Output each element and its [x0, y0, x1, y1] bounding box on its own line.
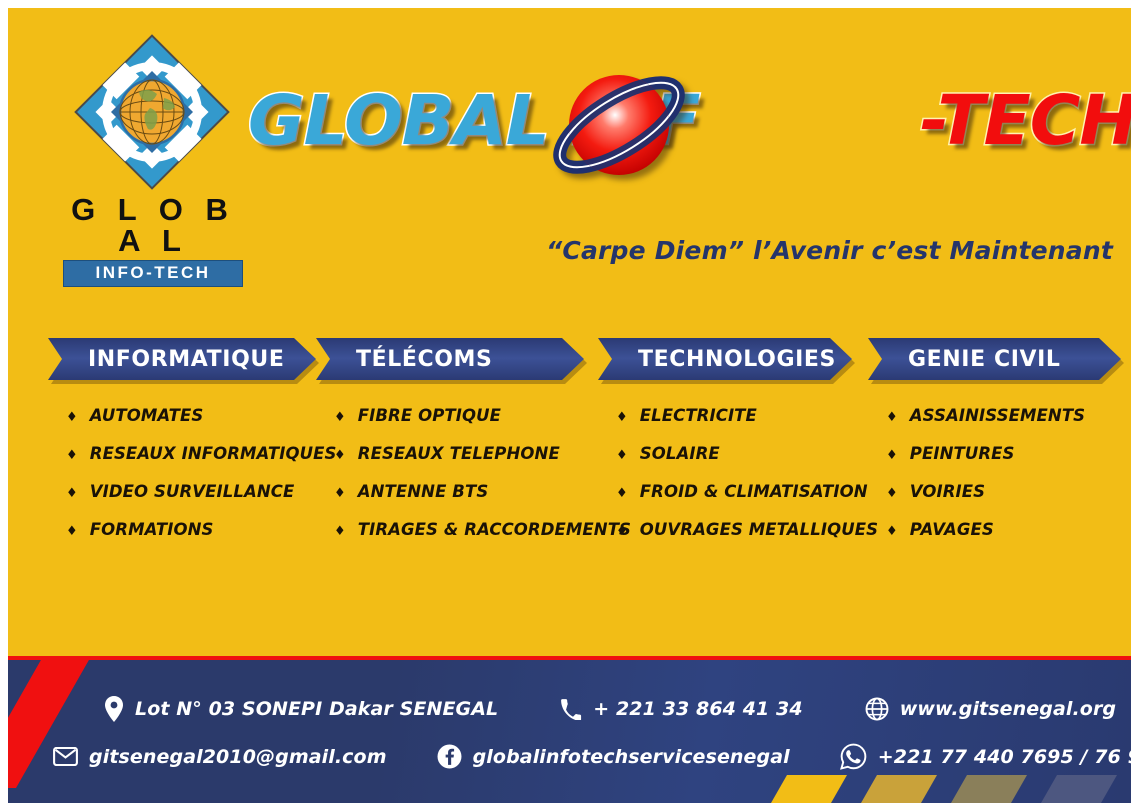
list-item: ♦ PEINTURES — [886, 444, 1121, 463]
phone-icon — [560, 698, 582, 720]
list-item-label: PEINTURES — [910, 444, 1015, 463]
diamond-globe-logo-icon — [66, 32, 238, 192]
category-banner-informatique[interactable]: INFORMATIQUE — [48, 338, 316, 380]
category-banner-telecoms[interactable]: TÉLÉCOMS — [316, 338, 584, 380]
decorative-fade-bars — [761, 767, 1131, 803]
contact-website[interactable]: www.gitsenegal.org — [865, 697, 1116, 721]
list-item: ♦ FIBRE OPTIQUE — [334, 406, 584, 425]
facebook-text: globalinfotechservicesenegal — [473, 746, 790, 768]
service-list: ♦ ELECTRICITE ♦ SOLAIRE ♦ FROID & CLIMAT… — [598, 406, 852, 539]
diamond-bullet-icon: ♦ — [616, 411, 628, 424]
list-item: ♦ PAVAGES — [886, 520, 1121, 539]
service-column-informatique: INFORMATIQUE ♦ AUTOMATES ♦ RESEAUX INFOR… — [48, 338, 316, 558]
list-item-label: OUVRAGES METALLIQUES — [640, 520, 878, 539]
diamond-bullet-icon: ♦ — [886, 449, 898, 462]
list-item-label: RESEAUX INFORMATIQUES — [90, 444, 337, 463]
contact-email[interactable]: gitsenegal2010@gmail.com — [53, 746, 387, 768]
list-item: ♦ AUTOMATES — [66, 406, 316, 425]
red-stripe — [8, 656, 1131, 660]
diamond-bullet-icon: ♦ — [66, 525, 78, 538]
list-item: ♦ RESEAUX INFORMATIQUES — [66, 444, 316, 463]
category-banner-genie-civil[interactable]: GENIE CIVIL — [868, 338, 1121, 380]
list-item: ♦ OUVRAGES METALLIQUES — [616, 520, 852, 539]
list-item-label: RESEAUX TELEPHONE — [358, 444, 560, 463]
contact-row-1: Lot N° 03 SONEPI Dakar SENEGAL + 221 33 … — [104, 696, 1126, 722]
list-item-label: AUTOMATES — [90, 406, 204, 425]
diamond-bullet-icon: ♦ — [66, 411, 78, 424]
list-item: ♦ ASSAINISSEMENTS — [886, 406, 1121, 425]
list-item: ♦ SOLAIRE — [616, 444, 852, 463]
diamond-bullet-icon: ♦ — [616, 487, 628, 500]
brand-title-part2: -TECH SERVICES — [920, 68, 1131, 174]
diamond-bullet-icon: ♦ — [66, 449, 78, 462]
flyer-canvas: G L O B A L INFO-TECH GLOBAL INF -TECH S… — [8, 8, 1131, 803]
list-item-label: ANTENNE BTS — [358, 482, 489, 501]
list-item-label: TIRAGES & RACCORDEMENTS — [358, 520, 631, 539]
list-item: ♦ FORMATIONS — [66, 520, 316, 539]
tagline: “Carpe Diem” l’Avenir c’est Maintenant — [8, 236, 1113, 265]
service-column-technologies: TECHNOLOGIES ♦ ELECTRICITE ♦ SOLAIRE ♦ F… — [598, 338, 852, 558]
list-item-label: SOLAIRE — [640, 444, 720, 463]
contact-facebook[interactable]: globalinfotechservicesenegal — [437, 744, 790, 769]
category-heading: TÉLÉCOMS — [316, 347, 492, 372]
diamond-bullet-icon: ♦ — [334, 411, 346, 424]
service-column-genie-civil: GENIE CIVIL ♦ ASSAINISSEMENTS ♦ PEINTURE… — [868, 338, 1121, 558]
category-heading: GENIE CIVIL — [868, 347, 1061, 372]
whatsapp-icon — [840, 743, 867, 770]
list-item-label: PAVAGES — [910, 520, 994, 539]
diamond-bullet-icon: ♦ — [886, 525, 898, 538]
website-text: www.gitsenegal.org — [900, 698, 1116, 720]
flyer-root: G L O B A L INFO-TECH GLOBAL INF -TECH S… — [0, 0, 1139, 811]
service-list: ♦ FIBRE OPTIQUE ♦ RESEAUX TELEPHONE ♦ AN… — [316, 406, 584, 539]
list-item: ♦ ANTENNE BTS — [334, 482, 584, 501]
list-item: ♦ FROID & CLIMATISATION — [616, 482, 852, 501]
contact-phone[interactable]: + 221 33 864 41 34 — [560, 698, 802, 720]
service-list: ♦ AUTOMATES ♦ RESEAUX INFORMATIQUES ♦ VI… — [48, 406, 316, 539]
location-pin-icon — [104, 696, 124, 722]
category-heading: INFORMATIQUE — [48, 347, 284, 372]
contact-footer: Lot N° 03 SONEPI Dakar SENEGAL + 221 33 … — [8, 656, 1131, 803]
list-item: ♦ ELECTRICITE — [616, 406, 852, 425]
contact-whatsapp[interactable]: +221 77 440 7695 / 76 922 4202 — [840, 743, 1131, 770]
phone-text: + 221 33 864 41 34 — [593, 698, 802, 720]
whatsapp-text: +221 77 440 7695 / 76 922 4202 — [878, 746, 1131, 768]
diamond-bullet-icon: ♦ — [66, 487, 78, 500]
diamond-bullet-icon: ♦ — [886, 487, 898, 500]
list-item-label: ASSAINISSEMENTS — [910, 406, 1085, 425]
list-item: ♦ VOIRIES — [886, 482, 1121, 501]
diamond-bullet-icon: ♦ — [886, 411, 898, 424]
category-heading: TECHNOLOGIES — [598, 347, 836, 372]
list-item: ♦ TIRAGES & RACCORDEMENTS — [334, 520, 584, 539]
diamond-bullet-icon: ♦ — [334, 525, 346, 538]
globe-icon — [865, 697, 889, 721]
diamond-bullet-icon: ♦ — [334, 487, 346, 500]
list-item: ♦ VIDEO SURVEILLANCE — [66, 482, 316, 501]
list-item-label: FROID & CLIMATISATION — [640, 482, 868, 501]
list-item-label: FIBRE OPTIQUE — [358, 406, 501, 425]
contact-row-2: gitsenegal2010@gmail.com globalinfotechs… — [53, 743, 1131, 770]
service-list: ♦ ASSAINISSEMENTS ♦ PEINTURES ♦ VOIRIES … — [868, 406, 1121, 539]
diamond-bullet-icon: ♦ — [616, 449, 628, 462]
service-columns: INFORMATIQUE ♦ AUTOMATES ♦ RESEAUX INFOR… — [8, 338, 1131, 608]
diamond-bullet-icon: ♦ — [616, 525, 628, 538]
envelope-icon — [53, 747, 78, 766]
email-text: gitsenegal2010@gmail.com — [89, 746, 387, 768]
service-column-telecoms: TÉLÉCOMS ♦ FIBRE OPTIQUE ♦ RESEAUX TELEP… — [316, 338, 584, 558]
list-item-label: VOIRIES — [910, 482, 985, 501]
facebook-icon — [437, 744, 462, 769]
contact-address[interactable]: Lot N° 03 SONEPI Dakar SENEGAL — [104, 696, 498, 722]
category-banner-technologies[interactable]: TECHNOLOGIES — [598, 338, 852, 380]
address-text: Lot N° 03 SONEPI Dakar SENEGAL — [135, 698, 498, 720]
header: G L O B A L INFO-TECH GLOBAL INF -TECH S… — [8, 8, 1131, 308]
list-item: ♦ RESEAUX TELEPHONE — [334, 444, 584, 463]
list-item-label: VIDEO SURVEILLANCE — [90, 482, 295, 501]
list-item-label: FORMATIONS — [90, 520, 214, 539]
diamond-bullet-icon: ♦ — [334, 449, 346, 462]
red-planet-o-icon — [546, 54, 692, 196]
list-item-label: ELECTRICITE — [640, 406, 757, 425]
